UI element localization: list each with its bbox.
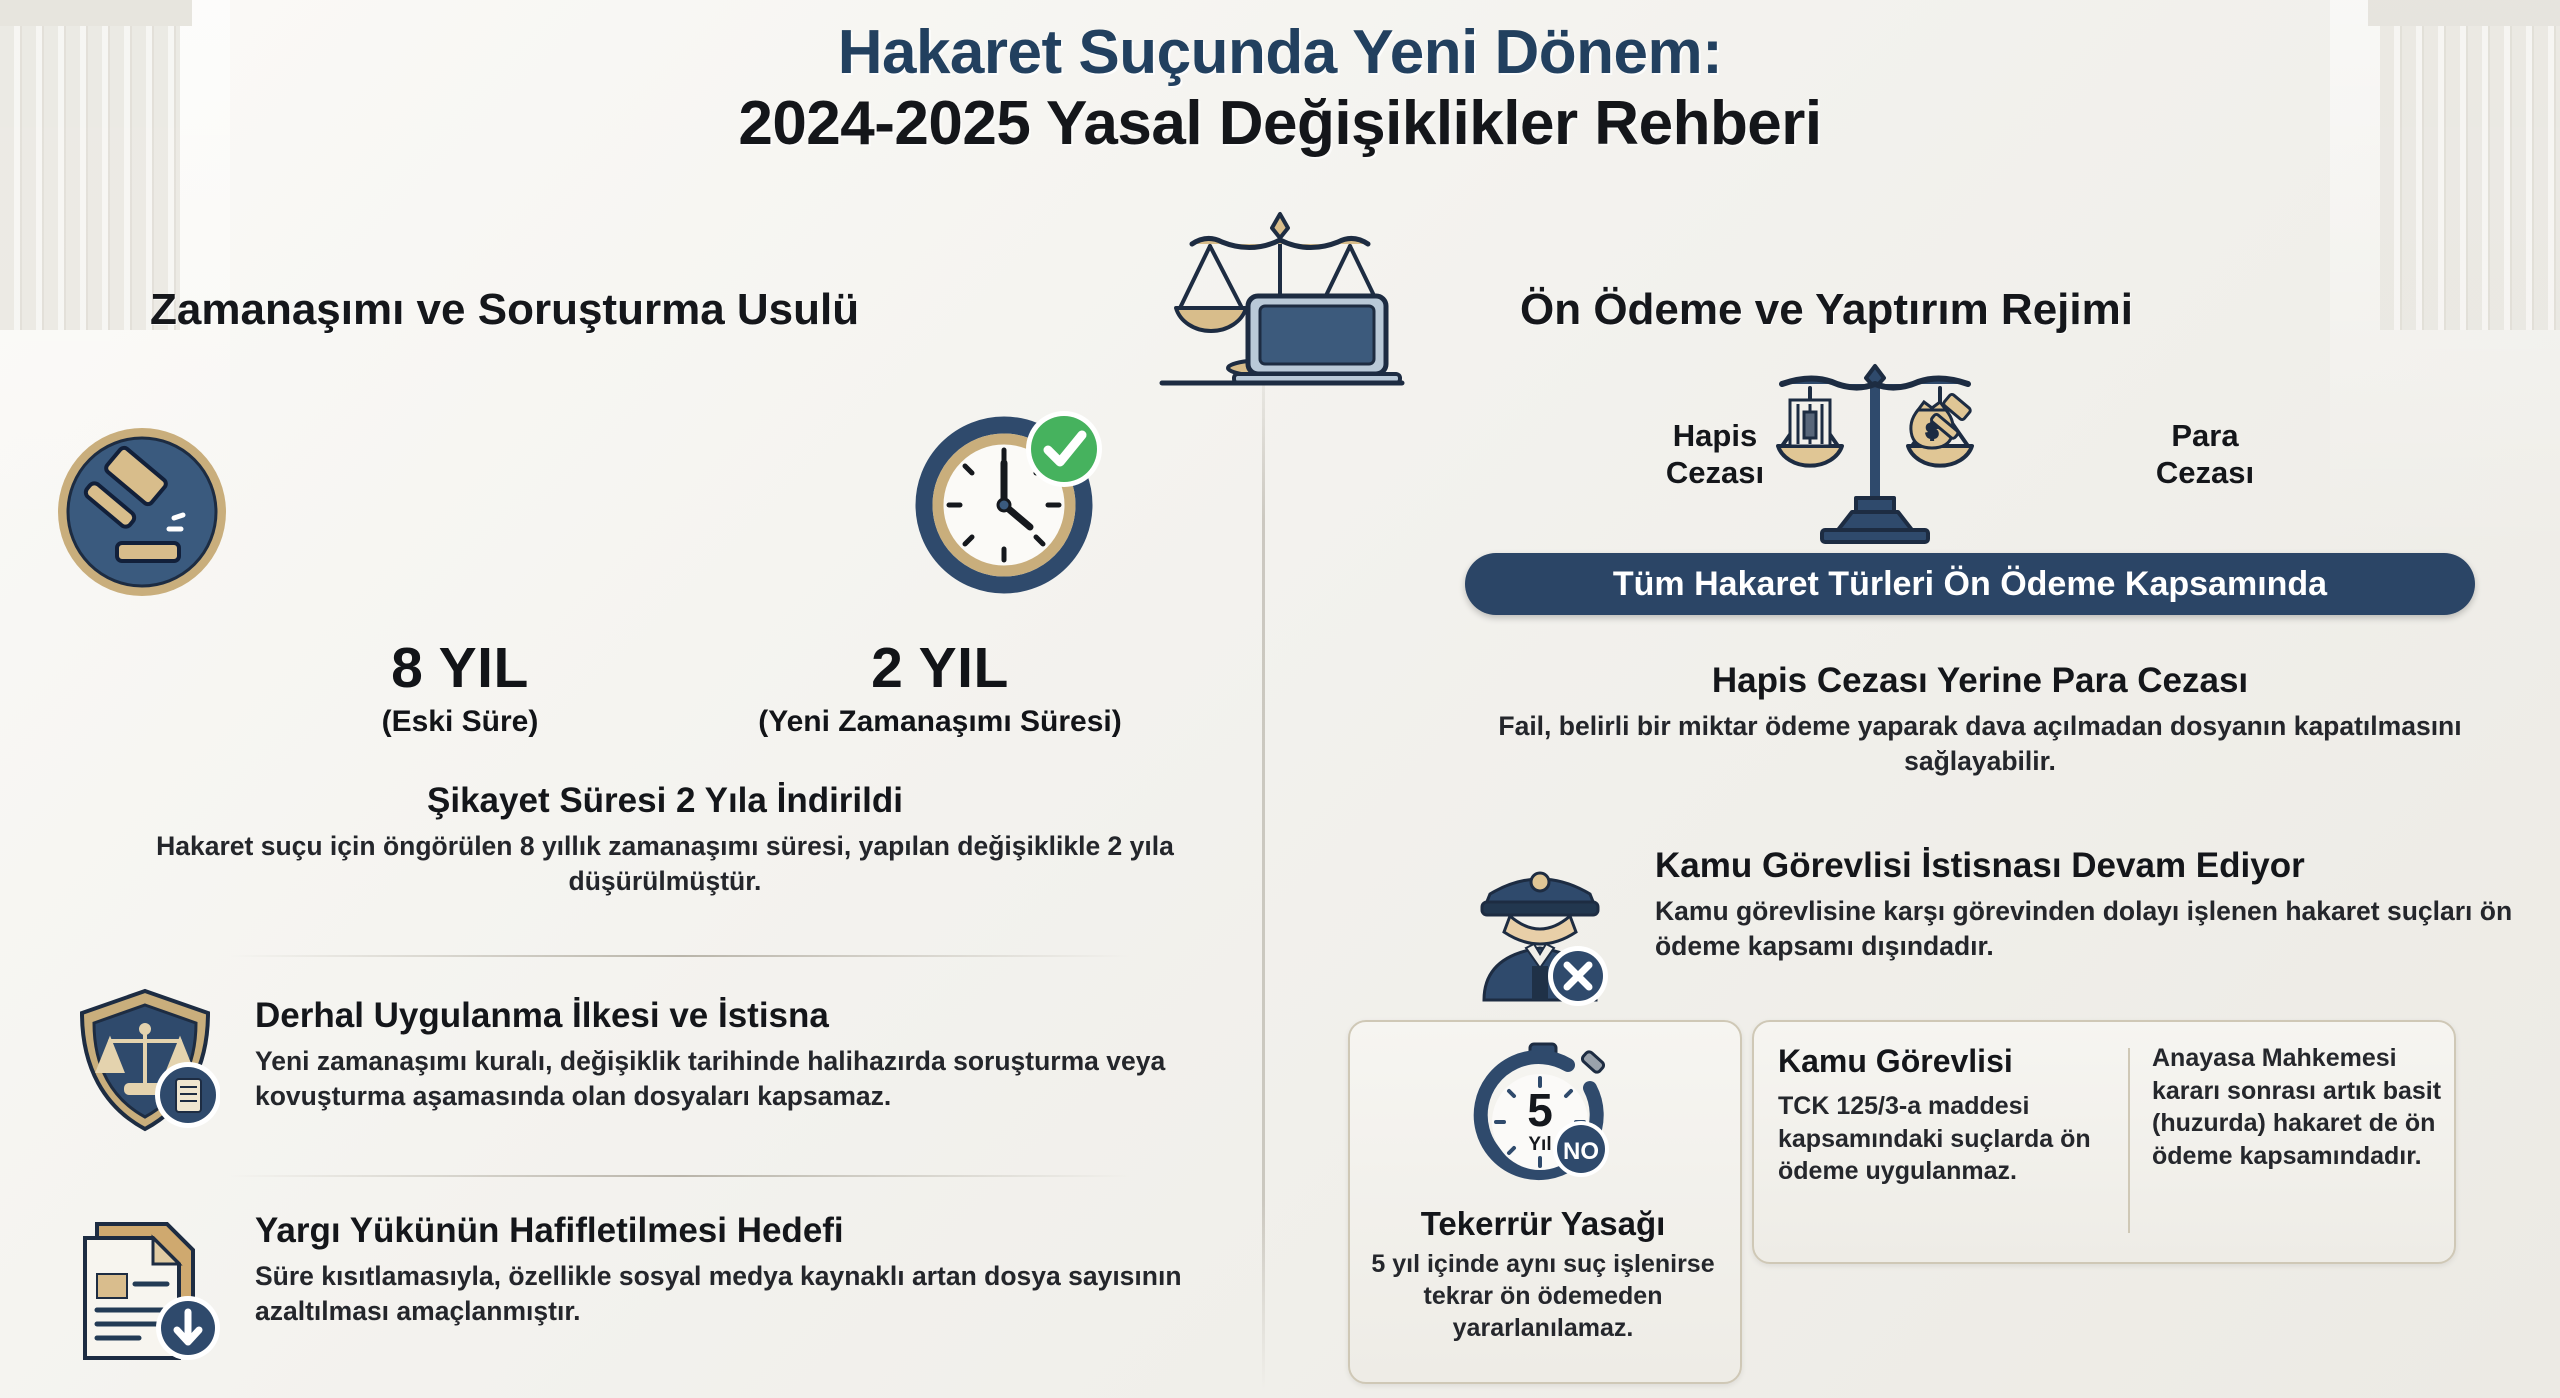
card-split-left: Kamu Görevlisi TCK 125/3-a maddesi kapsa… (1778, 1042, 2118, 1188)
block-yargi-title: Yargı Yükünün Hafifletilmesi Hedefi (255, 1210, 1245, 1252)
block-sikayet-suresi: Şikayet Süresi 2 Yıla İndirildi Hakaret … (150, 780, 1180, 899)
scale-label-para-cezasi: Para Cezası (2105, 418, 2305, 491)
documents-download-icon (75, 1200, 225, 1360)
block-kamu-gorevlisi-title: Kamu Görevlisi İstisnası Devam Ediyor (1655, 845, 2515, 887)
status-badge-on-odeme-kapsami: Tüm Hakaret Türleri Ön Ödeme Kapsamında (1465, 553, 2475, 615)
left-column-heading: Zamanaşımı ve Soruşturma Usulü (150, 285, 859, 335)
status-badge-label: Tüm Hakaret Türleri Ön Ödeme Kapsamında (1613, 565, 2327, 604)
block-sikayet-body: Hakaret suçu için öngörülen 8 yıllık zam… (150, 829, 1180, 899)
scale-label-para-line2: Cezası (2105, 455, 2305, 492)
column-divider (1262, 330, 1265, 1390)
clock-check-icon (912, 405, 1107, 600)
police-officer-block-icon (1460, 850, 1620, 1010)
stat-new-period: 2 YIL (Yeni Zamanaşımı Süresi) (740, 635, 1140, 739)
block-sikayet-title: Şikayet Süresi 2 Yıla İndirildi (150, 780, 1180, 822)
infographic-canvas: Hakaret Suçunda Yeni Dönem: 2024-2025 Ya… (0, 0, 2560, 1398)
scales-laptop-icon (1152, 196, 1408, 386)
block-hapis-yerine-body: Fail, belirli bir miktar ödeme yaparak d… (1470, 709, 2490, 779)
block-kamu-gorevlisi-istisnasi: Kamu Görevlisi İstisnası Devam Ediyor Ka… (1655, 845, 2515, 964)
card-split-right-body: Anayasa Mahkemesi kararı sonrası artık b… (2152, 1042, 2447, 1172)
title-line-1: Hakaret Suçunda Yeni Dönem: (0, 18, 2560, 87)
stopwatch-no-label: NO (1563, 1138, 1599, 1165)
stat-new-caption: (Yeni Zamanaşımı Süresi) (740, 705, 1140, 739)
stat-new-value: 2 YIL (740, 635, 1140, 701)
gavel-badge-icon (55, 425, 230, 600)
stat-old-value: 8 YIL (260, 635, 660, 701)
title-line-2: 2024-2025 Yasal Değişiklikler Rehberi (0, 87, 2560, 160)
card-tekerrur-body: 5 yıl içinde aynı suç işlenirse tekrar ö… (1352, 1248, 1734, 1344)
divider-2 (230, 1175, 1130, 1177)
shield-scales-icon (70, 985, 220, 1135)
scale-label-hapis-line1: Hapis (1615, 418, 1815, 455)
card-tekerrur-title: Tekerrür Yasağı (1348, 1205, 1738, 1243)
block-derhal-body: Yeni zamanaşımı kuralı, değişiklik tarih… (255, 1044, 1245, 1114)
block-yargi-yuku: Yargı Yükünün Hafifletilmesi Hedefi Süre… (255, 1210, 1245, 1329)
page-title: Hakaret Suçunda Yeni Dönem: 2024-2025 Ya… (0, 18, 2560, 161)
block-yargi-body: Süre kısıtlamasıyla, özellikle sosyal me… (255, 1259, 1245, 1329)
block-hapis-yerine-title: Hapis Cezası Yerine Para Cezası (1470, 660, 2490, 702)
card-split-separator (2128, 1048, 2130, 1233)
scale-label-hapis-cezasi: Hapis Cezası (1615, 418, 1815, 491)
stopwatch-number: 5 (1527, 1084, 1553, 1136)
stopwatch-unit: Yıl (1528, 1134, 1551, 1155)
block-derhal-uygulanma: Derhal Uygulanma İlkesi ve İstisna Yeni … (255, 995, 1245, 1114)
stopwatch-no-icon: 5 Yıl NO (1468, 1040, 1618, 1190)
card-split-right: Anayasa Mahkemesi kararı sonrası artık b… (2152, 1042, 2447, 1172)
block-hapis-yerine-para: Hapis Cezası Yerine Para Cezası Fail, be… (1470, 660, 2490, 779)
divider-1 (230, 955, 1130, 957)
block-derhal-title: Derhal Uygulanma İlkesi ve İstisna (255, 995, 1245, 1037)
card-split-left-title: Kamu Görevlisi (1778, 1042, 2118, 1080)
scale-label-para-line1: Para (2105, 418, 2305, 455)
stat-old-period: 8 YIL (Eski Süre) (260, 635, 660, 739)
block-kamu-gorevlisi-body: Kamu görevlisine karşı görevinden dolayı… (1655, 894, 2515, 964)
scale-label-hapis-line2: Cezası (1615, 455, 1815, 492)
stat-old-caption: (Eski Süre) (260, 705, 660, 739)
card-split-left-body: TCK 125/3-a maddesi kapsamındaki suçlard… (1778, 1090, 2118, 1188)
right-column-heading: Ön Ödeme ve Yaptırım Rejimi (1520, 285, 2133, 335)
